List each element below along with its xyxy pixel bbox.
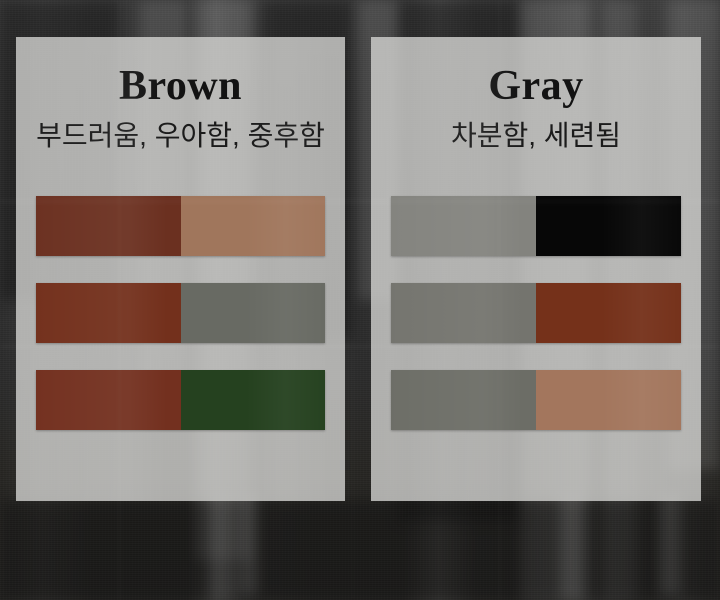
swatch-gray-2-right: [536, 283, 681, 343]
swatch-row-gray-3: [391, 370, 681, 430]
color-panel-gray: Gray 차분함, 세련됨: [371, 37, 701, 501]
swatch-brown-2-left: [36, 283, 181, 343]
swatch-row-gray-1: [391, 196, 681, 256]
swatch-gray-1-right: [536, 196, 681, 256]
swatch-brown-1-left: [36, 196, 181, 256]
swatch-brown-1-right: [181, 196, 326, 256]
screenshot-root: Brown 부드러움, 우아함, 중후함 Gray 차분함, 세련됨: [0, 0, 720, 600]
panel-title-brown: Brown: [16, 37, 345, 107]
panel-subtitle-brown: 부드러움, 우아함, 중후함: [16, 107, 345, 152]
swatch-gray-1-left: [391, 196, 536, 256]
swatch-row-brown-3: [36, 370, 325, 430]
background-ground: [0, 500, 720, 600]
swatch-gray-3-right: [536, 370, 681, 430]
color-panel-brown: Brown 부드러움, 우아함, 중후함: [16, 37, 345, 501]
swatch-gray-3-left: [391, 370, 536, 430]
swatch-row-gray-2: [391, 283, 681, 343]
swatch-brown-2-right: [181, 283, 326, 343]
swatch-row-brown-2: [36, 283, 325, 343]
panel-subtitle-gray: 차분함, 세련됨: [371, 107, 701, 152]
background-leg-3: [560, 495, 582, 600]
swatch-gray-2-left: [391, 283, 536, 343]
background-leg-2: [238, 495, 258, 595]
panel-title-gray: Gray: [371, 37, 701, 107]
swatch-list-brown: [36, 196, 325, 430]
swatch-row-brown-1: [36, 196, 325, 256]
background-leg-1: [210, 495, 234, 600]
background-leg-4: [660, 495, 680, 595]
swatch-list-gray: [391, 196, 681, 430]
swatch-brown-3-left: [36, 370, 181, 430]
swatch-brown-3-right: [181, 370, 326, 430]
